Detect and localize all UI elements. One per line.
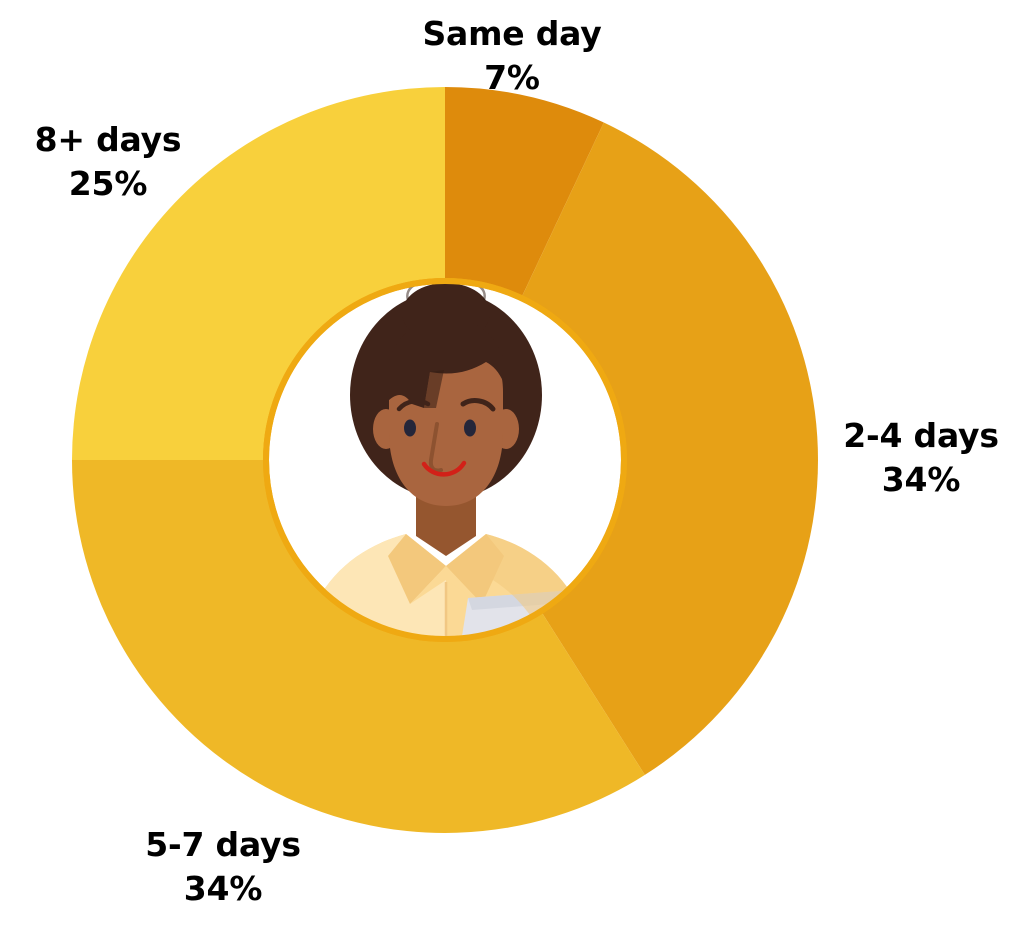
slice-label-same-day: Same day 7%: [392, 14, 632, 99]
slice-label-8-plus-days-name: 8+ days: [8, 120, 208, 160]
donut-chart: Same day 7% 2-4 days 34% 5-7 days 34% 8+…: [0, 0, 1024, 928]
eye-left: [404, 420, 416, 437]
slice-label-8-plus-days-value: 25%: [8, 164, 208, 204]
slice-label-same-day-value: 7%: [392, 58, 632, 98]
slice-label-2-4-days: 2-4 days 34%: [818, 416, 1024, 501]
slice-label-same-day-name: Same day: [392, 14, 632, 54]
eye-right: [464, 420, 476, 437]
slice-label-5-7-days-name: 5-7 days: [118, 825, 328, 865]
slice-label-5-7-days: 5-7 days 34%: [118, 825, 328, 910]
slice-label-5-7-days-value: 34%: [118, 869, 328, 909]
slice-label-2-4-days-value: 34%: [818, 460, 1024, 500]
slice-label-8-plus-days: 8+ days 25%: [8, 120, 208, 205]
slice-label-2-4-days-name: 2-4 days: [818, 416, 1024, 456]
